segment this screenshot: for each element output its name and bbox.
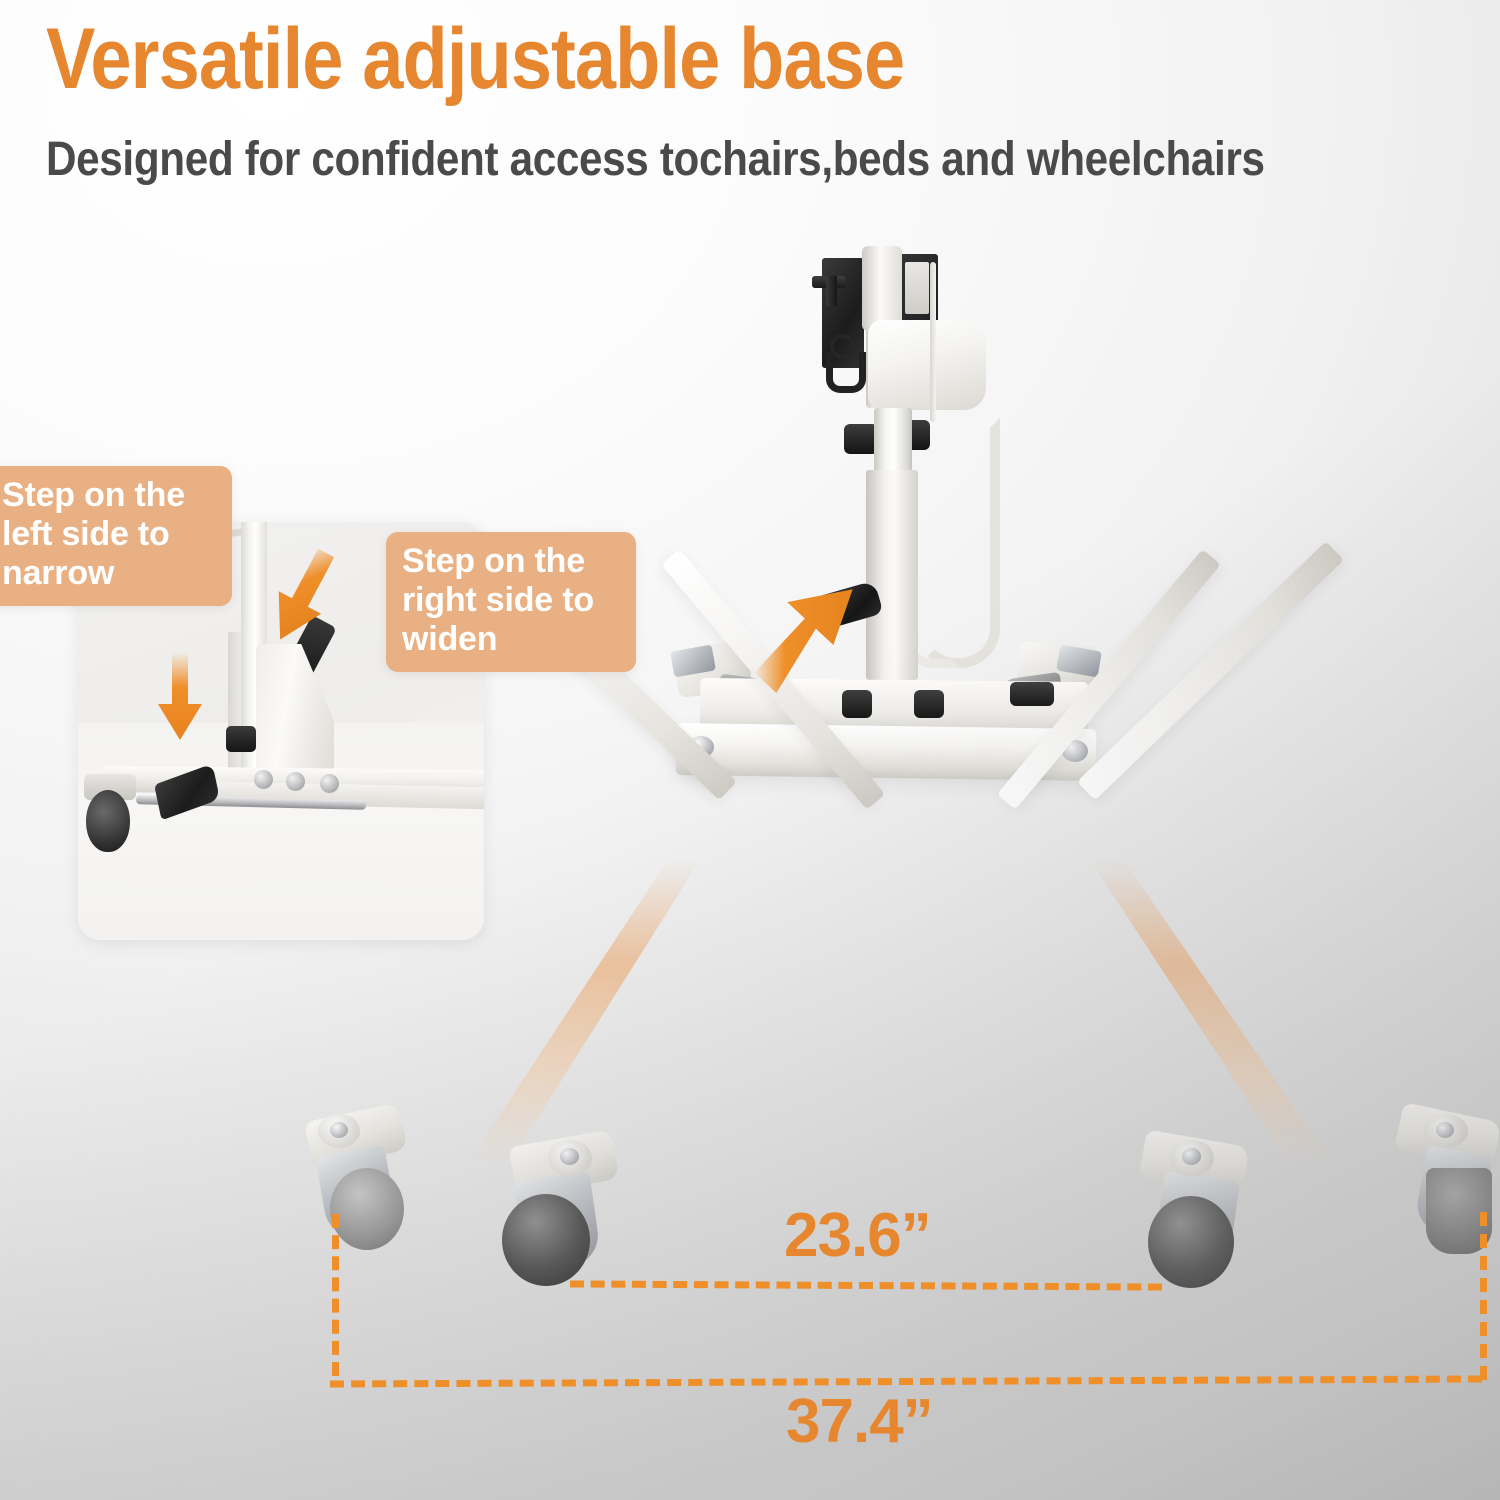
dimension-line-inner [570, 1280, 1162, 1290]
leg-range-glow-right [1090, 860, 1330, 1160]
caster-fork-2 [514, 1171, 602, 1273]
actuator-motor-housing [868, 320, 986, 410]
crossbar-bolt-right [1062, 740, 1088, 762]
pivot-block-right [1016, 641, 1098, 698]
caster-cap-1 [318, 1114, 360, 1148]
caster-mount-4 [1394, 1102, 1500, 1170]
mast-lower [874, 408, 912, 674]
inset-bolt-1 [254, 770, 273, 789]
callout-badge-narrow: Step on the left side to narrow [0, 466, 232, 606]
caster-mount-3 [1138, 1129, 1249, 1196]
foot-pedal-right [998, 672, 1064, 712]
actuator-label-plate [905, 262, 929, 314]
leg-range-glow-left [470, 860, 700, 1160]
actuator-bracket-right [898, 254, 938, 366]
inset-caster-wheel [86, 790, 130, 852]
caster-bolt-1 [330, 1122, 348, 1138]
center-black-pedal [816, 580, 883, 629]
page-title: Versatile adjustable base [46, 18, 1147, 101]
mast-upper [866, 258, 896, 408]
t-handle-stem [826, 276, 837, 306]
dimension-label-outer: 37.4” [786, 1386, 933, 1457]
leg-rear-left [661, 549, 885, 810]
inset-knob [226, 726, 256, 752]
actuator-neck [862, 246, 902, 331]
inset-bolt-2 [286, 772, 305, 791]
base-knob-left [842, 690, 872, 718]
coiled-cable [916, 418, 1000, 668]
actuator-bracket-left [822, 258, 864, 368]
hook-eye-icon [830, 334, 855, 359]
callout-badge-widen-label: Step on the right side to widen [402, 542, 594, 658]
caster-wheel-2 [502, 1194, 590, 1286]
mast-lower-sleeve [866, 470, 918, 680]
caster-mount-1 [304, 1103, 408, 1170]
leg-rear-right [997, 549, 1221, 810]
caster-fork-1 [315, 1145, 399, 1242]
base-crossbar-upper [700, 678, 1089, 740]
hook-clevis-icon [826, 352, 866, 393]
caster-bolt-2 [560, 1148, 579, 1165]
dimension-tick-left [332, 1214, 339, 1376]
caster-cap-2 [548, 1140, 592, 1176]
caster-bolt-4 [1436, 1122, 1454, 1138]
caster-bolt-3 [1182, 1148, 1201, 1165]
inset-foot-plate [256, 644, 334, 784]
crossbar-bolt-left [688, 736, 714, 758]
caster-cap-4 [1424, 1114, 1468, 1148]
foot-pedal-left [716, 673, 788, 716]
adjust-knob-left [844, 424, 878, 454]
page-subtitle: Designed for confident access tochairs,b… [46, 133, 1278, 187]
inset-bolt-3 [320, 774, 339, 793]
caster-wheel-1 [330, 1168, 404, 1250]
adjust-knob-right [896, 420, 930, 450]
base-crossbar-front [676, 723, 1097, 781]
power-cable [930, 262, 936, 422]
coiled-cable-inner [900, 470, 960, 668]
caster-wheel-3 [1148, 1196, 1234, 1288]
dimension-tick-right [1480, 1212, 1487, 1380]
base-knob-far-right [1010, 682, 1054, 706]
caster-mount-2 [508, 1129, 619, 1196]
leg-front-right [1077, 541, 1344, 800]
caster-fork-3 [1152, 1171, 1240, 1273]
hinge-plate-left [670, 645, 716, 678]
dimension-label-inner: 23.6” [784, 1200, 931, 1271]
pivot-block-left [674, 640, 753, 697]
callout-badge-widen: Step on the right side to widen [386, 532, 636, 672]
caster-cap-3 [1170, 1140, 1214, 1176]
t-handle-icon [812, 276, 846, 288]
down-arrow-icon-main [744, 566, 874, 706]
base-knob-right [914, 690, 944, 718]
hinge-plate-right [1056, 645, 1102, 678]
promo-graphic: Versatile adjustable base Designed for c… [0, 0, 1500, 1500]
callout-badge-narrow-label: Step on the left side to narrow [2, 476, 185, 592]
